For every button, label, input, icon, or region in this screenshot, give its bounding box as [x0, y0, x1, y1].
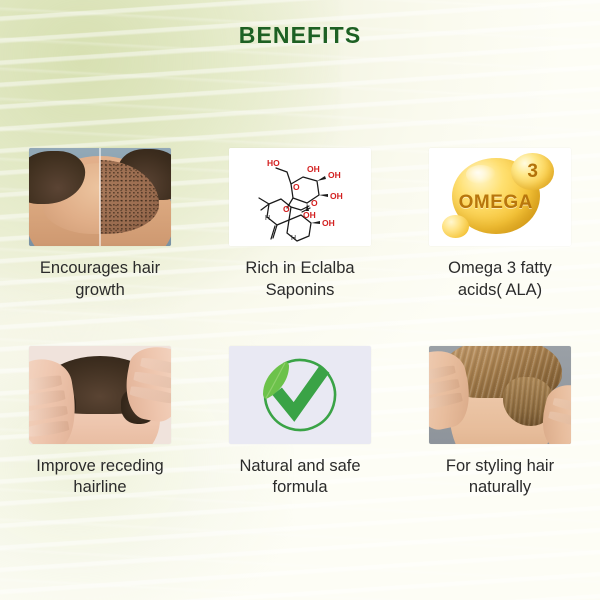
benefit-caption: Rich in Eclalba Saponins: [207, 258, 393, 302]
caption-line-1: Natural and safe: [239, 457, 360, 475]
caption-line-2: naturally: [469, 478, 531, 496]
benefit-caption: For styling hair naturally: [407, 456, 593, 500]
caption-line-2: formula: [272, 478, 327, 496]
caption-line-1: Omega 3 fatty: [448, 259, 552, 277]
benefit-caption: Natural and safe formula: [207, 456, 393, 500]
finger: [29, 420, 69, 438]
svg-text:OH: OH: [307, 164, 320, 174]
svg-text:O: O: [293, 182, 300, 192]
omega-label-text: OMEGA: [449, 192, 543, 214]
caption-line-2: growth: [75, 281, 125, 299]
svg-text:OH: OH: [303, 210, 316, 220]
benefit-item-omega-3-fatty-acids: 3 OMEGA Omega 3 fatty acids( ALA): [400, 148, 600, 302]
stubble-layer: [100, 156, 171, 246]
benefit-item-for-styling-hair-naturally: For styling hair naturally: [400, 346, 600, 500]
page-title: BENEFITS: [0, 22, 600, 49]
finger: [429, 392, 463, 411]
green-leaf-checkmark-icon: [229, 346, 371, 444]
benefit-caption: Improve receding hairline: [7, 456, 193, 500]
caption-line-2: hairline: [73, 478, 126, 496]
saponin-molecule-svg: HO OH OH OH OH OH O O O H H: [229, 148, 371, 246]
caption-line-1: Encourages hair: [40, 259, 160, 277]
benefit-item-rich-in-eclalba-saponins: HO OH OH OH OH OH O O O H H: [200, 148, 400, 302]
caption-line-1: For styling hair: [446, 457, 554, 475]
benefit-item-improve-receding-hairline: Improve receding hairline: [0, 346, 200, 500]
svg-text:HO: HO: [267, 158, 280, 168]
benefit-item-encourages-hair-growth: Encourages hair growth: [0, 148, 200, 302]
benefits-grid: Encourages hair growth: [0, 148, 600, 499]
benefit-caption: Encourages hair growth: [7, 258, 193, 302]
finger: [29, 389, 66, 407]
omega-3-capsule-illustration: 3 OMEGA: [429, 148, 571, 246]
omega-badge-number: 3: [527, 162, 538, 181]
svg-text:OH: OH: [330, 191, 343, 201]
svg-text:OH: OH: [322, 218, 335, 228]
styling-hair-photo: [429, 346, 571, 444]
capsule-small-sphere: [442, 215, 469, 239]
benefit-item-natural-and-safe-formula: Natural and safe formula: [200, 346, 400, 500]
svg-text:H: H: [291, 235, 296, 242]
caption-line-1: Improve receding: [36, 457, 163, 475]
caption-line-2: acids( ALA): [458, 281, 542, 299]
svg-text:O: O: [311, 198, 318, 208]
benefit-caption: Omega 3 fatty acids( ALA): [407, 258, 593, 302]
before-after-divider: [99, 148, 101, 246]
receding-hairline-photo: [29, 346, 171, 444]
omega-number-badge: 3: [511, 153, 554, 190]
svg-text:H: H: [265, 215, 270, 222]
caption-line-2: Saponins: [266, 281, 335, 299]
caption-line-1: Rich in Eclalba: [245, 259, 354, 277]
finger: [129, 386, 171, 405]
scalp-photo-graphic: [29, 148, 171, 246]
finger: [548, 410, 571, 428]
after-half: [100, 156, 171, 246]
checkmark-shape: [281, 374, 321, 412]
chemical-structure-diagram: HO OH OH OH OH OH O O O H H: [229, 148, 371, 246]
stubble-fill: [100, 160, 159, 234]
benefits-infographic: BENEFITS: [0, 0, 600, 600]
leaf-check-svg: [229, 346, 371, 444]
svg-text:O: O: [283, 204, 290, 214]
before-after-scalp-photo: [29, 148, 171, 246]
svg-text:OH: OH: [328, 170, 341, 180]
